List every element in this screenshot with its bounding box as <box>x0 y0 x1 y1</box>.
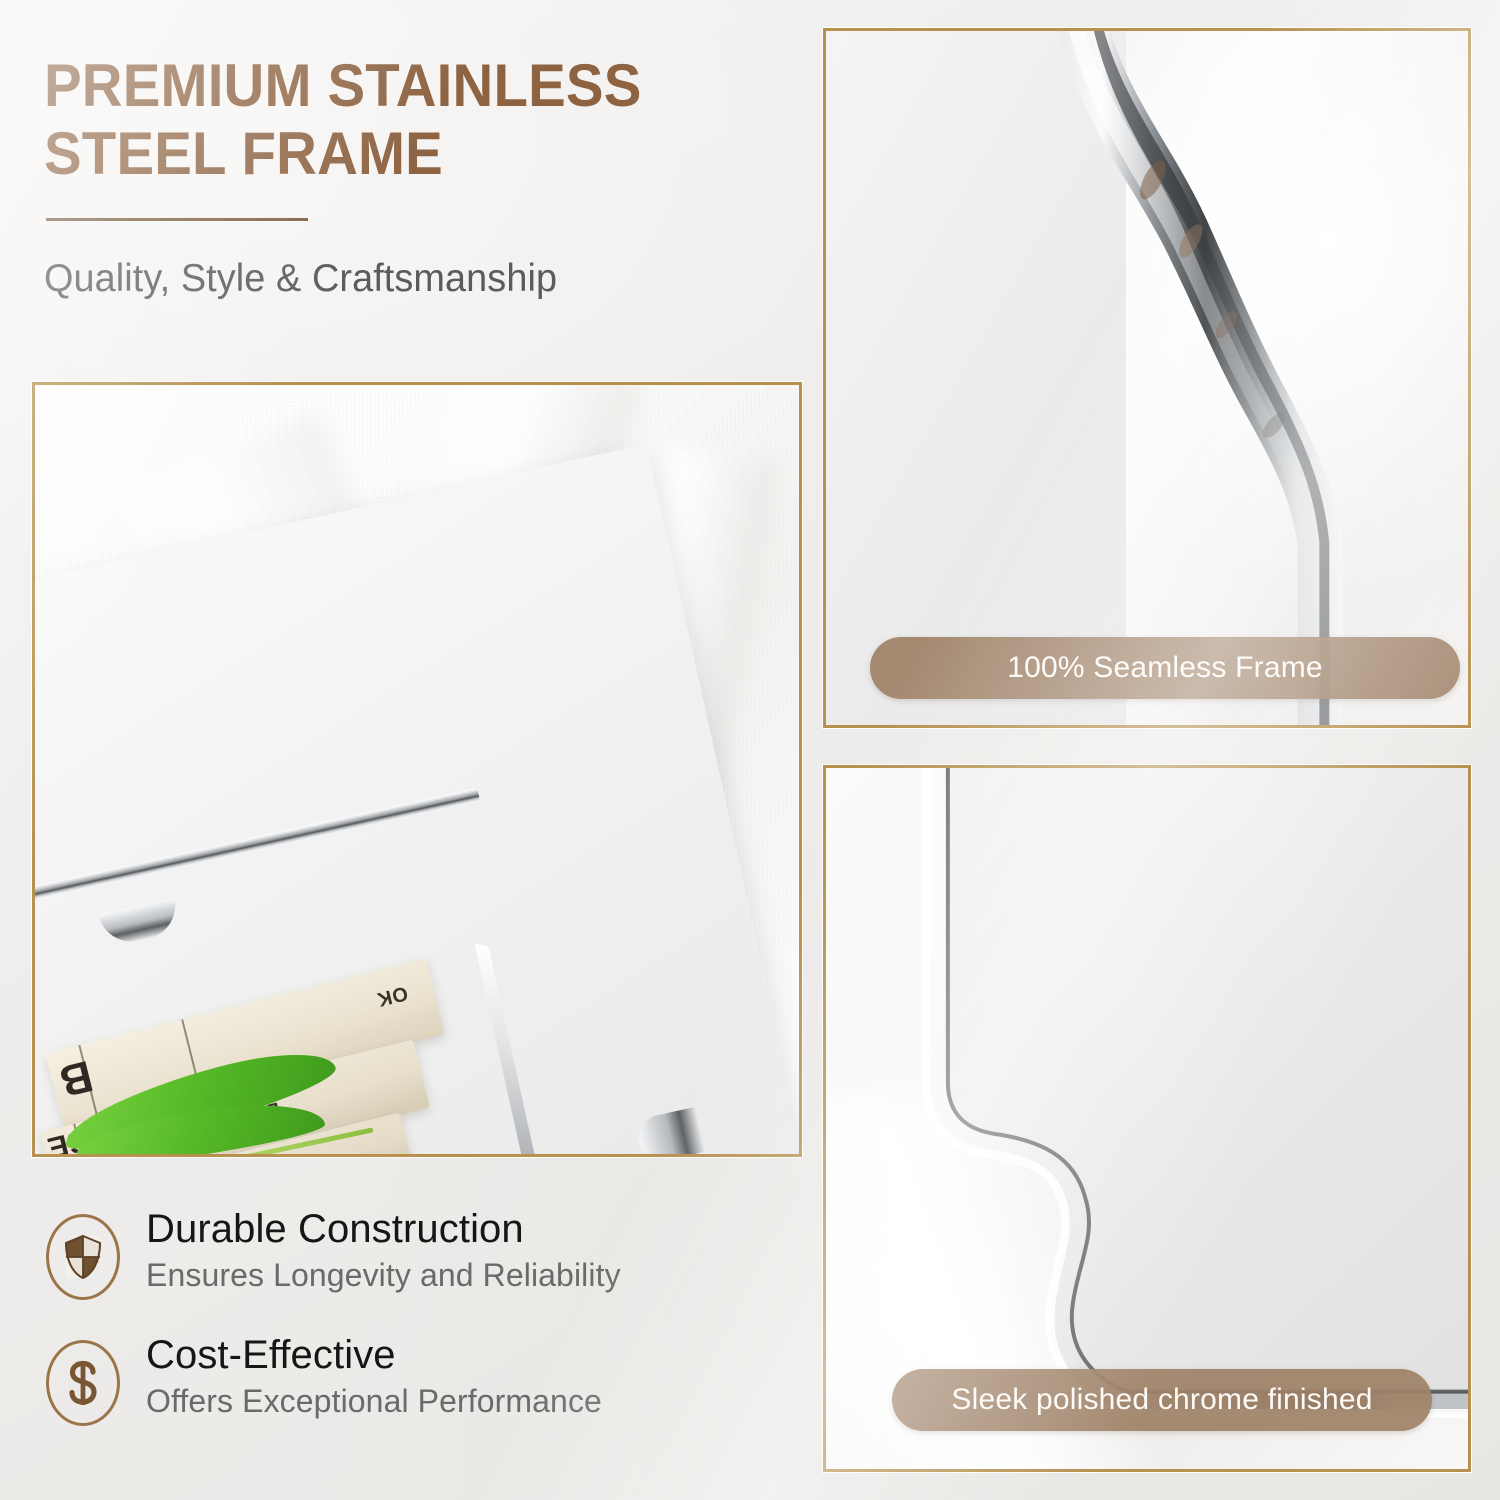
feature-text: Cost-Effective Offers Exceptional Perfor… <box>146 1334 602 1421</box>
badge-seamless-frame: 100% Seamless Frame <box>870 637 1460 699</box>
mirror-on-books-photo-panel: OK B BOOK INCORPORATION OF BOOK IS MOUNT… <box>32 382 802 1157</box>
page-subtitle: Quality, Style & Craftsmanship <box>44 257 781 301</box>
photo-content: OK B BOOK INCORPORATION OF BOOK IS MOUNT… <box>35 385 799 1154</box>
title-divider <box>46 218 308 221</box>
photo-content: 100% Seamless Frame <box>826 31 1468 725</box>
feature-text: Durable Construction Ensures Longevity a… <box>146 1208 621 1295</box>
infographic-canvas: PREMIUM STAINLESS STEEL FRAME Quality, S… <box>0 0 1500 1500</box>
dollar-sign-icon <box>63 1359 103 1407</box>
feature-list: Durable Construction Ensures Longevity a… <box>46 1208 746 1460</box>
photo-content: Sleek polished chrome finished <box>826 768 1468 1469</box>
feature-title: Cost-Effective <box>146 1334 602 1376</box>
feature-durable-construction: Durable Construction Ensures Longevity a… <box>46 1208 746 1300</box>
feature-title: Durable Construction <box>146 1208 621 1250</box>
chrome-finish-photo-panel: Sleek polished chrome finished <box>823 765 1471 1472</box>
book-cover-letter: B <box>55 1050 98 1106</box>
shield-icon-wrapper <box>46 1214 120 1300</box>
feature-subtitle: Offers Exceptional Performance <box>146 1382 602 1420</box>
chrome-s-curve-rod <box>826 31 1468 725</box>
header-block: PREMIUM STAINLESS STEEL FRAME Quality, S… <box>44 52 804 301</box>
shield-icon <box>63 1234 103 1280</box>
feature-subtitle: Ensures Longevity and Reliability <box>146 1256 621 1294</box>
seamless-frame-photo-panel: 100% Seamless Frame <box>823 28 1471 728</box>
badge-polished-chrome: Sleek polished chrome finished <box>892 1369 1432 1431</box>
feature-cost-effective: Cost-Effective Offers Exceptional Perfor… <box>46 1334 746 1426</box>
mirror-corner-with-scalloped-edge <box>826 768 1468 1469</box>
dollar-sign-icon-wrapper <box>46 1340 120 1426</box>
book-cover-text: OK <box>374 981 410 1011</box>
page-title: PREMIUM STAINLESS STEEL FRAME <box>44 52 758 188</box>
